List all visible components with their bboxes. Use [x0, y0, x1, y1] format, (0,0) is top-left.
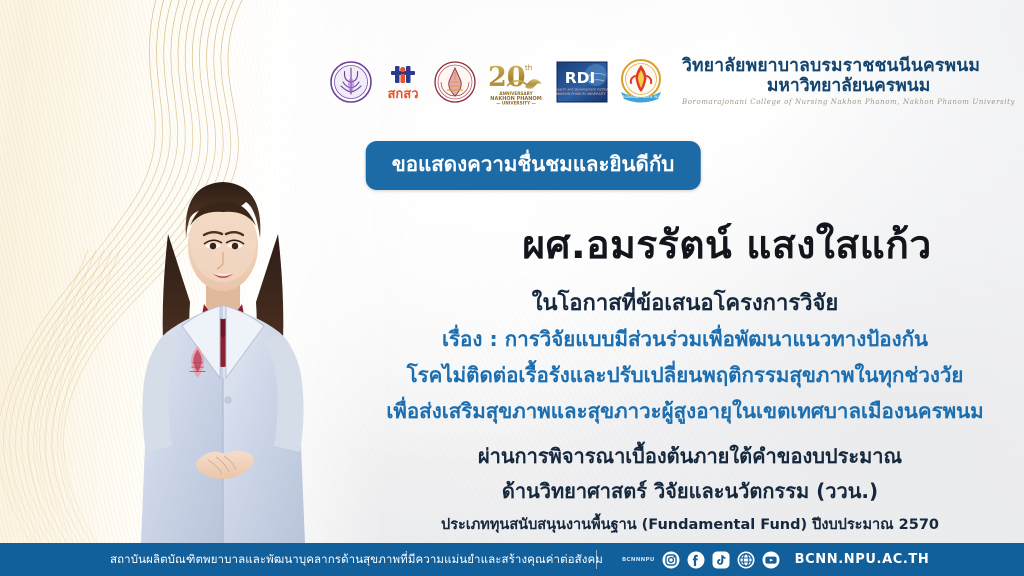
footer-url[interactable]: BCNN.NPU.AC.TH	[795, 552, 930, 567]
svg-text:NAKHON PHANOM UNIVERSITY: NAKHON PHANOM UNIVERSITY	[556, 92, 605, 96]
brand-text-block: วิทยาลัยพยาบาลบรมราชชนนีนครพนม มหาวิทยาล…	[682, 58, 1015, 106]
svg-text:th: th	[525, 64, 532, 72]
approval-line-2: ด้านวิทยาศาสตร์ วิจัยและนวัตกรรม (ววน.)	[380, 475, 1000, 507]
globe-icon[interactable]	[737, 551, 755, 569]
trident-seal-logo	[330, 61, 372, 103]
honoree-name: ผศ.อมรรัตน์ แสงใสแก้ว	[522, 214, 932, 276]
honoree-portrait	[108, 138, 338, 543]
bcnnnpu-wordmark: BCNNNPU	[622, 557, 655, 563]
footer-tagline: สถาบันผลิตบัณฑิตพยาบาลและพัฒนาบุคลากรด้า…	[110, 551, 603, 569]
project-block: ในโอกาสที่ข้อเสนอโครงการวิจัย เรื่อง : ก…	[365, 285, 1005, 428]
project-heading: ในโอกาสที่ข้อเสนอโครงการวิจัย	[365, 285, 1005, 320]
brand-line-2: มหาวิทยาลัยนครพนม	[682, 78, 1015, 96]
brand-line-3: Boromarajonani College of Nursing Nakhon…	[682, 99, 1015, 106]
rdi-logo: RDI Research and Development Institute N…	[556, 61, 608, 103]
project-line-2: โรคไม่ติดต่อเรื้อรังและปรับเปลี่ยนพฤติกร…	[365, 359, 1005, 392]
svg-text:RDI: RDI	[565, 69, 596, 87]
logo-row: สกสว 20 th AN	[330, 52, 1015, 112]
tiktok-icon[interactable]	[712, 551, 730, 569]
anniversary-20th-logo: 20 th ANNIVERSARY NAKHON PHANOM — UNIVER…	[485, 59, 547, 105]
svg-text:20: 20	[488, 62, 526, 93]
instagram-icon[interactable]	[662, 551, 680, 569]
svg-text:PRABOROMARAJCHANOK INSTITUTE: PRABOROMARAJCHANOK INSTITUTE	[617, 95, 665, 99]
brand-line-1: วิทยาลัยพยาบาลบรมราชชนนีนครพนม	[682, 58, 1015, 76]
approval-line-1: ผ่านการพิจารณาเบื้องต้นภายใต้คำของบประมา…	[380, 440, 1000, 472]
footer-bar: สถาบันผลิตบัณฑิตพยาบาลและพัฒนาบุคลากรด้า…	[0, 543, 1024, 576]
approval-line-3: ประเภททุนสนับสนุนงานพื้นฐาน (Fundamental…	[380, 513, 1000, 536]
approval-block: ผ่านการพิจารณาเบื้องต้นภายใต้คำของบประมา…	[380, 440, 1000, 536]
svg-text:— UNIVERSITY —: — UNIVERSITY —	[496, 101, 536, 106]
svg-text:สกสว: สกสว	[387, 87, 418, 102]
youtube-icon[interactable]	[762, 551, 780, 569]
project-line-1: เรื่อง : การวิจัยแบบมีส่วนร่วมเพื่อพัฒนา…	[365, 323, 1005, 356]
svg-text:Research and Development Insti: Research and Development Institute	[556, 88, 608, 92]
footer-social-group: BCNNNPU	[622, 551, 929, 569]
praboromarajchanok-logo: PRABOROMARAJCHANOK INSTITUTE	[617, 58, 665, 106]
sakosawo-logo: สกสว	[381, 60, 425, 104]
poster-canvas: สกสว 20 th AN	[0, 0, 1024, 576]
footer-divider	[596, 550, 597, 569]
facebook-icon[interactable]	[687, 551, 705, 569]
project-line-3: เพื่อส่งเสริมสุขภาพและสุขภาวะผู้สูงอายุใ…	[365, 395, 1005, 428]
congratulations-banner: ขอแสดงความชื่นชมและยินดีกับ	[366, 141, 701, 190]
nakhon-phanom-seal-logo	[434, 60, 476, 104]
